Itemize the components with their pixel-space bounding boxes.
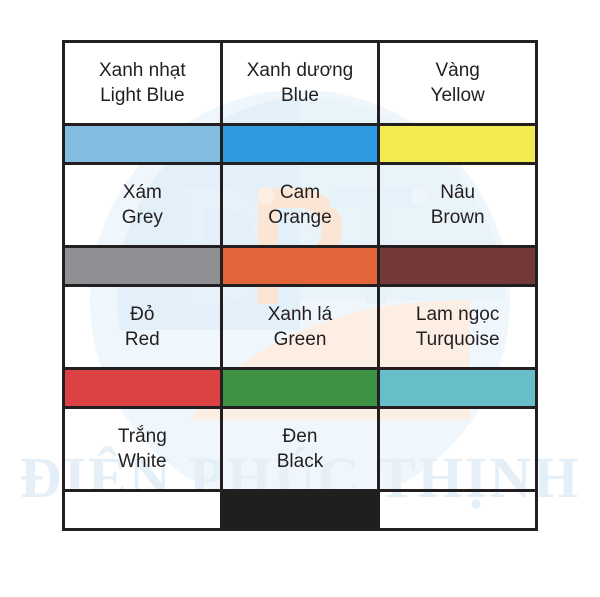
label-cell-black: Đen Black bbox=[221, 408, 379, 491]
table-row-labels: Trắng White Đen Black bbox=[64, 408, 537, 491]
swatch-light-blue bbox=[64, 125, 222, 164]
table-row-labels: Xanh nhạt Light Blue Xanh dương Blue Vàn… bbox=[64, 42, 537, 125]
label-vi: Vàng bbox=[380, 58, 535, 83]
label-cell-white: Trắng White bbox=[64, 408, 222, 491]
label-en: Brown bbox=[380, 205, 535, 230]
label-vi: Nâu bbox=[380, 180, 535, 205]
color-swatch-table: Xanh nhạt Light Blue Xanh dương Blue Vàn… bbox=[62, 40, 538, 531]
label-vi: Cam bbox=[223, 180, 378, 205]
label-cell-blue: Xanh dương Blue bbox=[221, 42, 379, 125]
label-vi: Xanh dương bbox=[223, 58, 378, 83]
label-cell-brown: Nâu Brown bbox=[379, 164, 537, 247]
label-en: Yellow bbox=[380, 83, 535, 108]
swatch-green bbox=[221, 369, 379, 408]
empty-cell bbox=[379, 491, 537, 530]
swatch-black bbox=[221, 491, 379, 530]
label-vi: Trắng bbox=[65, 424, 220, 449]
label-cell-yellow: Vàng Yellow bbox=[379, 42, 537, 125]
label-en: Black bbox=[223, 449, 378, 474]
swatch-blue bbox=[221, 125, 379, 164]
label-en: Green bbox=[223, 327, 378, 352]
table-row-swatches bbox=[64, 369, 537, 408]
swatch-brown bbox=[379, 247, 537, 286]
label-vi: Lam ngọc bbox=[380, 302, 535, 327]
label-en: Turquoise bbox=[380, 327, 535, 352]
table-row-swatches bbox=[64, 491, 537, 530]
table-row-labels: Xám Grey Cam Orange Nâu Brown bbox=[64, 164, 537, 247]
label-vi: Xám bbox=[65, 180, 220, 205]
label-vi: Đỏ bbox=[65, 302, 220, 327]
label-en: Grey bbox=[65, 205, 220, 230]
swatch-yellow bbox=[379, 125, 537, 164]
label-en: White bbox=[65, 449, 220, 474]
label-cell-red: Đỏ Red bbox=[64, 286, 222, 369]
swatch-red bbox=[64, 369, 222, 408]
label-en: Red bbox=[65, 327, 220, 352]
label-en: Blue bbox=[223, 83, 378, 108]
table-row-swatches bbox=[64, 247, 537, 286]
label-cell-orange: Cam Orange bbox=[221, 164, 379, 247]
swatch-white bbox=[64, 491, 222, 530]
label-en: Light Blue bbox=[65, 83, 220, 108]
label-vi: Xanh nhạt bbox=[65, 58, 220, 83]
empty-cell bbox=[379, 408, 537, 491]
label-cell-turquoise: Lam ngọc Turquoise bbox=[379, 286, 537, 369]
label-vi: Xanh lá bbox=[223, 302, 378, 327]
label-cell-light-blue: Xanh nhạt Light Blue bbox=[64, 42, 222, 125]
label-cell-grey: Xám Grey bbox=[64, 164, 222, 247]
label-vi: Đen bbox=[223, 424, 378, 449]
label-en: Orange bbox=[223, 205, 378, 230]
label-cell-green: Xanh lá Green bbox=[221, 286, 379, 369]
swatch-turquoise bbox=[379, 369, 537, 408]
table-row-swatches bbox=[64, 125, 537, 164]
swatch-grey bbox=[64, 247, 222, 286]
swatch-orange bbox=[221, 247, 379, 286]
table-row-labels: Đỏ Red Xanh lá Green Lam ngọc Turquoise bbox=[64, 286, 537, 369]
